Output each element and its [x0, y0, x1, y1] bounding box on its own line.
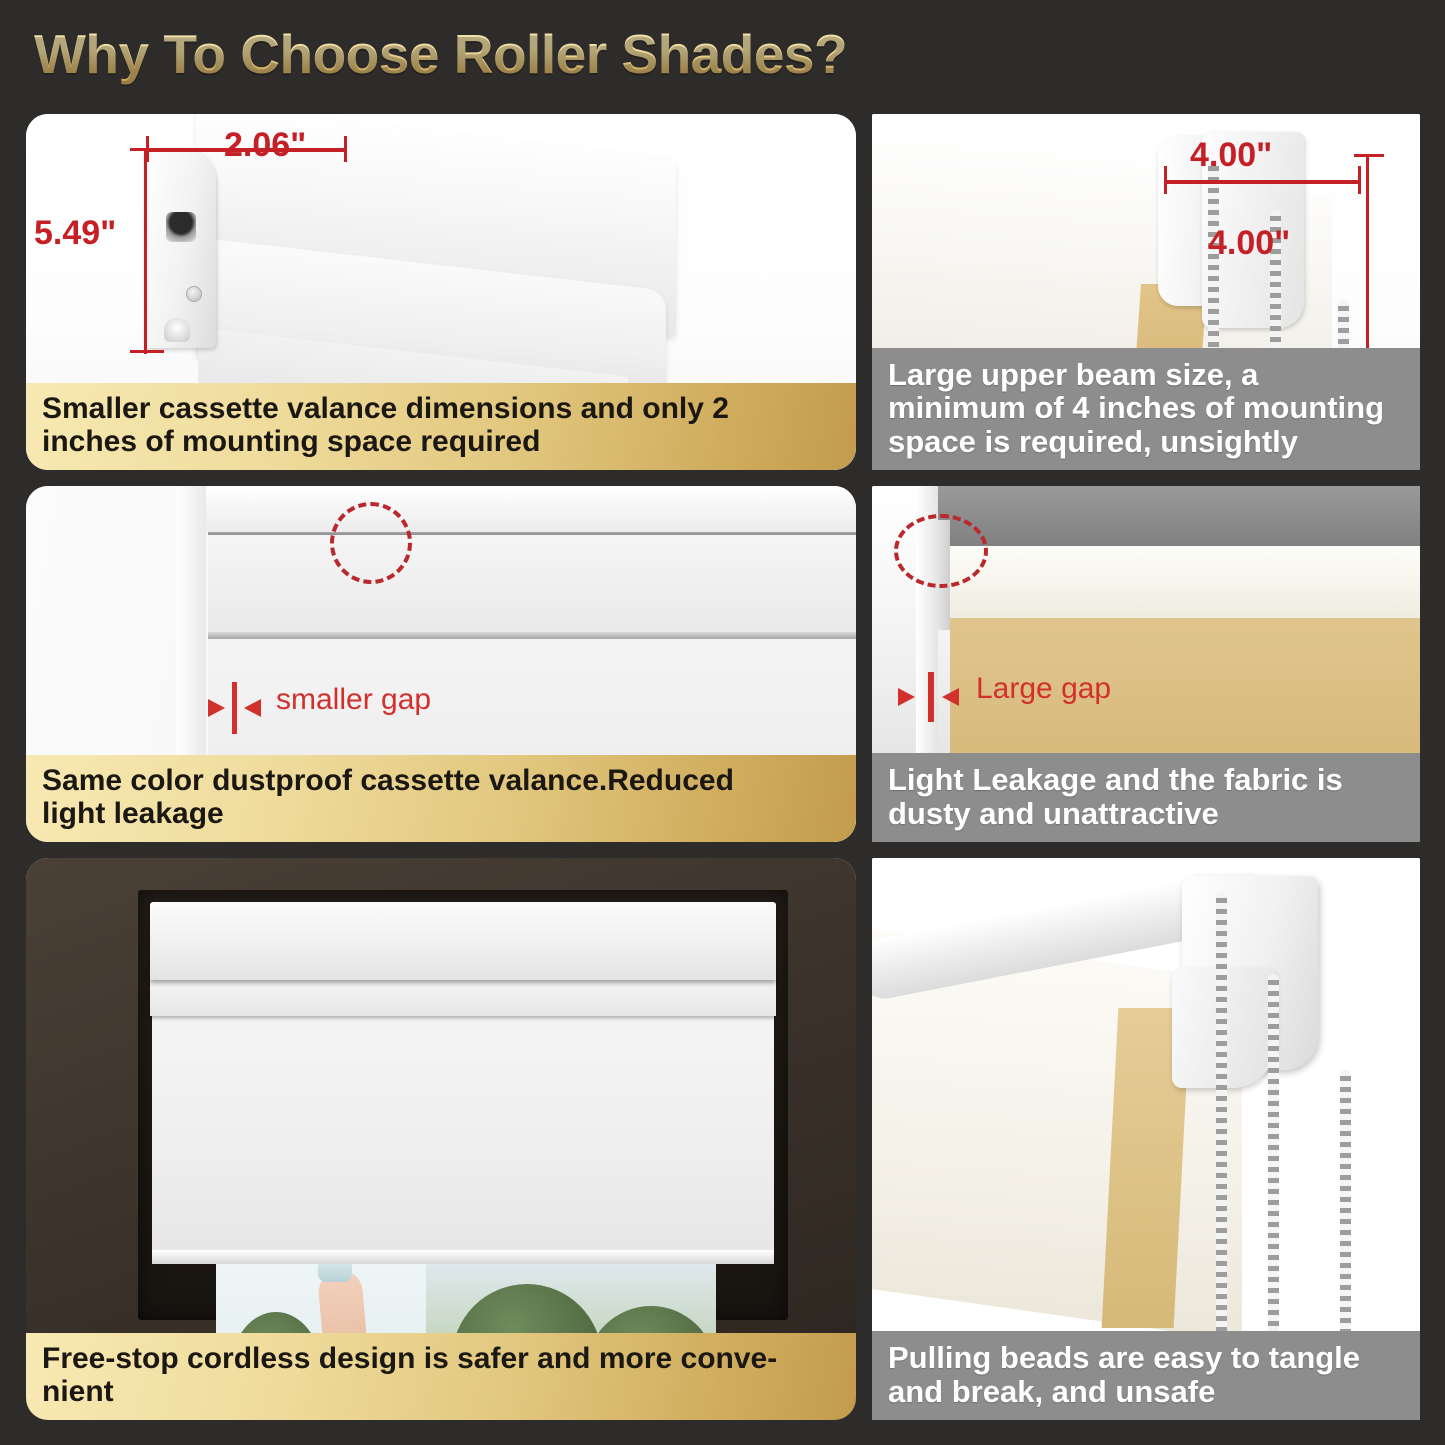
bracket-lock-icon	[164, 318, 190, 342]
panel-2-caption: Large upper beam size, a minimum of 4 in…	[872, 348, 1420, 470]
beam-width-label: 4.00"	[1190, 136, 1272, 175]
caption-line: nient	[42, 1376, 840, 1408]
panel-1-caption: Smaller cassette valance dimensions and …	[26, 383, 856, 470]
panel-large-gap: Large gap Light Leakage and the fabric i…	[872, 486, 1420, 842]
caption-line: space is required, unsightly	[888, 425, 1404, 458]
panel-4-caption: Light Leakage and the fabric is dusty an…	[872, 753, 1420, 842]
caption-line: Same color dustproof cassette valance.Re…	[42, 765, 840, 797]
caption-line: Pulling beads are easy to tangle	[888, 1341, 1404, 1374]
width-dimension-label: 2.06"	[224, 126, 306, 165]
gap-highlight-ellipse	[894, 514, 988, 588]
panel-large-beam: 4.00" 4.00" Large upper beam size, a min…	[872, 114, 1420, 470]
panel-pull-beads: Pulling beads are easy to tangle and bre…	[872, 858, 1420, 1420]
caption-line: light leakage	[42, 798, 840, 830]
bead-chain	[1268, 974, 1279, 1340]
caption-line: Free-stop cordless design is safer and m…	[42, 1343, 840, 1375]
bracket-slot-icon	[166, 212, 196, 242]
caption-line: Light Leakage and the fabric is	[888, 763, 1404, 796]
panel-3-caption: Same color dustproof cassette valance.Re…	[26, 755, 856, 842]
panel-cassette-dimensions: 2.06" 5.49" Smaller cassette valance dim…	[26, 114, 856, 470]
smaller-gap-label: smaller gap	[276, 683, 431, 717]
panel-grid: 2.06" 5.49" Smaller cassette valance dim…	[0, 0, 1445, 1445]
seam-highlight-ellipse	[330, 502, 412, 584]
caption-line: Smaller cassette valance dimensions and …	[42, 393, 840, 425]
panel-smaller-gap: smaller gap Same color dustproof cassett…	[26, 486, 856, 842]
bead-chain	[1340, 1070, 1351, 1338]
panel-6-caption: Pulling beads are easy to tangle and bre…	[872, 1331, 1420, 1420]
caption-line: dusty and unattractive	[888, 797, 1404, 830]
bracket-screw-icon	[186, 286, 202, 302]
bead-chain	[1216, 892, 1227, 1340]
caption-line: inches of mounting space required	[42, 426, 840, 458]
caption-line: minimum of 4 inches of mounting	[888, 391, 1404, 424]
height-dimension-label: 5.49"	[34, 214, 116, 253]
beam-height-label: 4.00"	[1208, 224, 1290, 263]
panel-5-caption: Free-stop cordless design is safer and m…	[26, 1333, 856, 1420]
panel-cordless-design: Free-stop cordless design is safer and m…	[26, 858, 856, 1420]
caption-line: and break, and unsafe	[888, 1375, 1404, 1408]
infographic-page: Why To Choose Roller Shades? 2.06"	[0, 0, 1445, 1445]
caption-line: Large upper beam size, a	[888, 358, 1404, 391]
large-gap-label: Large gap	[976, 672, 1111, 706]
